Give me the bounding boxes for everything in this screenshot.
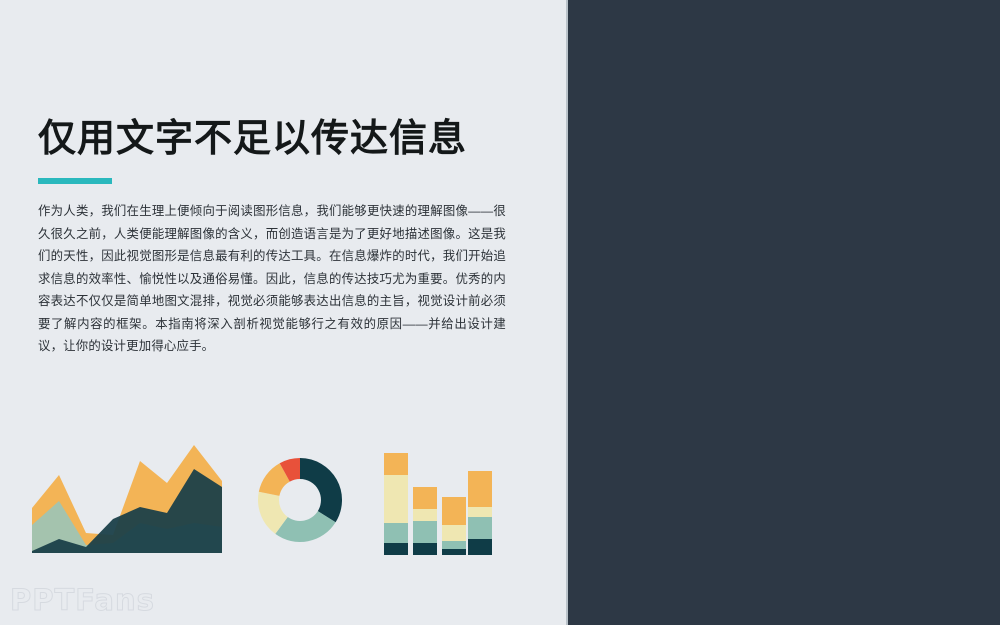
decorative-stacked-bar-chart (382, 445, 492, 555)
table-of-contents-panel: 目录 01 为何大脑偏爱视觉图形 3 可视化的价值所在 4 科学原因 5 (568, 0, 1000, 625)
left-content-panel: 仅用文字不足以传达信息 作为人类，我们在生理上便倾向于阅读图形信息，我们能够更快… (0, 0, 568, 625)
bar-seg-sage (413, 521, 437, 543)
bar-seg-dark (384, 543, 408, 555)
bar-chart-svg (382, 445, 492, 555)
area-chart-svg (32, 445, 222, 555)
decorative-area-chart (32, 445, 222, 555)
bar-seg-cream (413, 509, 437, 521)
bar-seg-cream (442, 525, 466, 541)
bar-group-3 (442, 497, 466, 555)
donut-chart-svg (247, 445, 353, 555)
bar-seg-orange (384, 453, 408, 475)
bar-group-1 (384, 453, 408, 555)
bar-seg-orange (468, 471, 492, 507)
donut-slice-dark (300, 458, 342, 522)
bar-seg-sage (468, 517, 492, 539)
pptfans-watermark: PPTFans (10, 583, 155, 617)
title-block: 仅用文字不足以传达信息 (38, 118, 538, 184)
decorative-donut-chart (247, 445, 353, 555)
bar-seg-sage (384, 523, 408, 543)
bar-seg-dark (413, 543, 437, 555)
presentation-slide: 仅用文字不足以传达信息 作为人类，我们在生理上便倾向于阅读图形信息，我们能够更快… (0, 0, 1000, 625)
bar-seg-orange (442, 497, 466, 525)
page-title: 仅用文字不足以传达信息 (38, 118, 538, 162)
bar-seg-sage (442, 541, 466, 549)
bar-seg-cream (384, 475, 408, 523)
bar-seg-dark (442, 549, 466, 555)
decorative-charts-group (0, 440, 568, 560)
bar-seg-cream (468, 507, 492, 517)
title-accent-rule (38, 178, 112, 184)
bar-seg-orange (413, 487, 437, 509)
bar-group-4 (468, 471, 492, 555)
bar-seg-dark (468, 539, 492, 555)
bar-group-2 (413, 487, 437, 555)
body-paragraph: 作为人类，我们在生理上便倾向于阅读图形信息，我们能够更快速的理解图像——很久很久… (38, 200, 506, 358)
